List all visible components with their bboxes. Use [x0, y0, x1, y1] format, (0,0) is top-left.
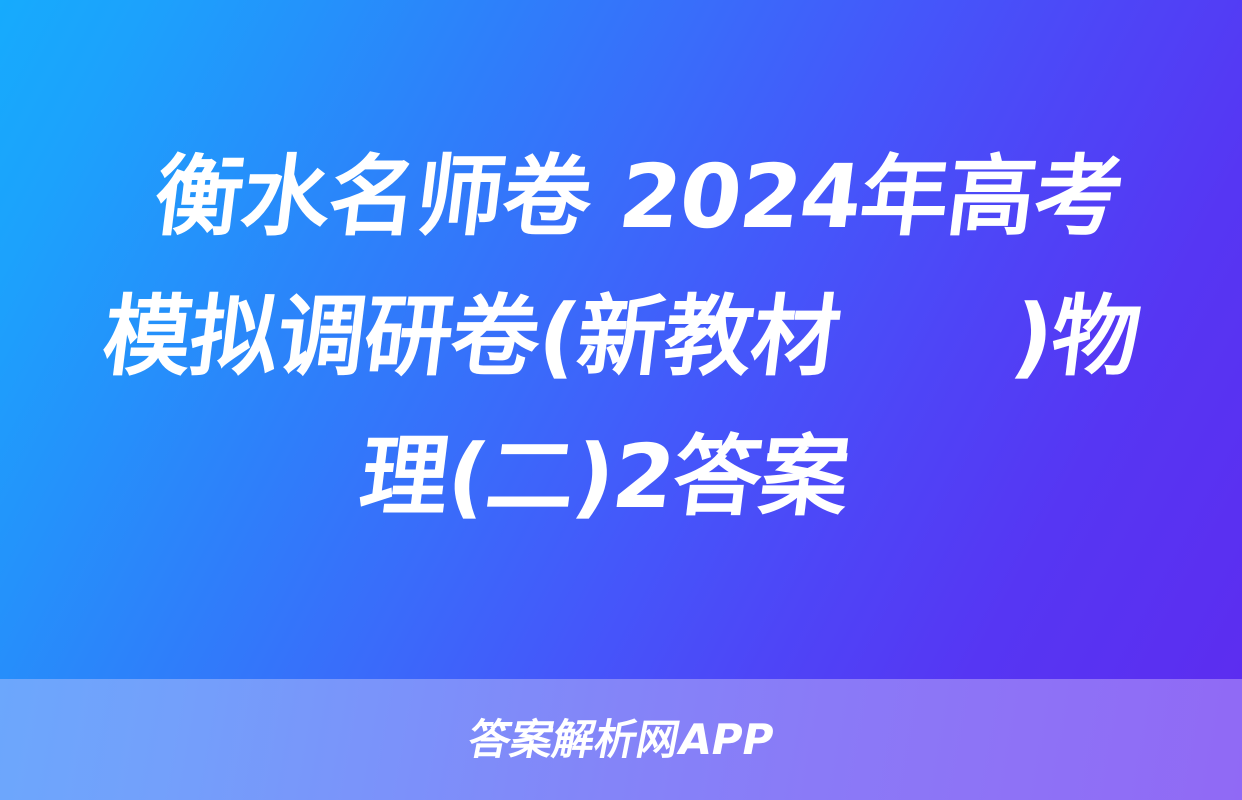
hero-section: 衡水名师卷 2024年高考 模拟调研卷(新教材 )物 理(二)2答案 [0, 0, 1242, 679]
watermark-label: 答案解析网APP [464, 716, 777, 764]
page-title: 衡水名师卷 2024年高考 模拟调研卷(新教材 )物 理(二)2答案 [35, 127, 1207, 553]
hero-content: 衡水名师卷 2024年高考 模拟调研卷(新教材 )物 理(二)2答案 [0, 0, 1242, 679]
watermark-bar: 答案解析网APP [0, 679, 1242, 800]
promo-banner: 衡水名师卷 2024年高考 模拟调研卷(新教材 )物 理(二)2答案 答案解析网… [0, 0, 1242, 800]
